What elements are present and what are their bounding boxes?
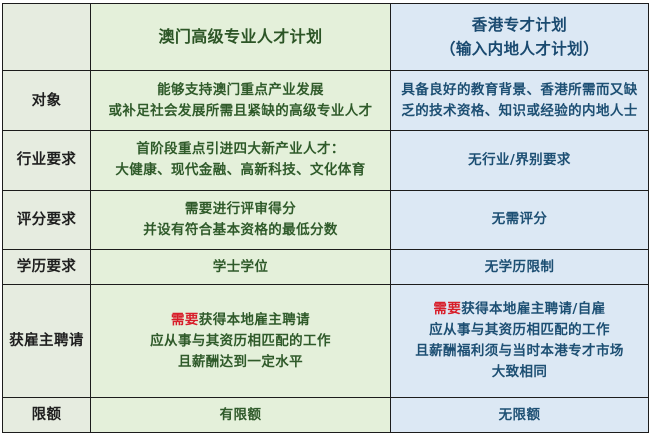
cell-macau-object: 能够支持澳门重点产业发展 或补足社会发展所需且紧缺的高级专业人才 [91, 71, 391, 131]
cell-macau-industry-requirement: 首阶段重点引进四大新产业人才： 大健康、现代金融、高新科技、文化体育 [91, 131, 391, 191]
row-label-education-requirement: 学历要求 [3, 250, 91, 285]
row-label-employer-sponsorship: 获雇主聘请 [3, 285, 91, 398]
row-label-scoring-requirement: 评分要求 [3, 190, 91, 250]
text-line: 或补足社会发展所需且紧缺的高级专业人才 [96, 101, 385, 122]
text-line-with-highlight: 需要获得本地雇主聘请/自雇 [396, 299, 643, 320]
text-line: 无限额 [396, 405, 643, 426]
table-row: 对象 能够支持澳门重点产业发展 或补足社会发展所需且紧缺的高级专业人才 具备良好… [3, 71, 649, 131]
row-label-object: 对象 [3, 71, 91, 131]
cell-hk-employer-sponsorship: 需要获得本地雇主聘请/自雇 应从事与其资历相匹配的工作 且薪酬福利须与当时本港专… [391, 285, 649, 398]
cell-hk-education-requirement: 无学历限制 [391, 250, 649, 285]
cell-hk-object: 具备良好的教育背景、香港所需而又缺 乏的技术资格、知识或经验的内地人士 [391, 71, 649, 131]
text-line: 首阶段重点引进四大新产业人才： [96, 139, 385, 160]
text-line: 无行业/界别要求 [396, 150, 643, 171]
text-line: 能够支持澳门重点产业发展 [96, 80, 385, 101]
text-line: 乏的技术资格、知识或经验的内地人士 [396, 101, 643, 122]
text-line-with-highlight: 需要获得本地雇主聘请 [96, 310, 385, 331]
table-row: 学历要求 学士学位 无学历限制 [3, 250, 649, 285]
highlight-red-text: 需要 [171, 312, 199, 328]
text-line: 具备良好的教育背景、香港所需而又缺 [396, 80, 643, 101]
text-line: 应从事与其资历相匹配的工作 [396, 320, 643, 341]
comparison-table-container: 澳门高级专业人才计划 香港专才计划 （输入内地人才计划） 对象 能够支持澳门重点… [0, 0, 650, 438]
highlight-red-text: 需要 [433, 301, 461, 317]
text-line: 获得本地雇主聘请/自雇 [461, 301, 605, 317]
header-hk-scheme: 香港专才计划 （输入内地人才计划） [391, 4, 649, 71]
text-line: 且薪酬福利须与当时本港专才市场 [396, 341, 643, 362]
text-line: 大致相同 [396, 362, 643, 383]
text-line: 学士学位 [96, 257, 385, 278]
text-line: 应从事与其资历相匹配的工作 [96, 331, 385, 352]
text-line: 无学历限制 [396, 257, 643, 278]
cell-hk-quota: 无限额 [391, 398, 649, 433]
text-line: 需要进行评审得分 [96, 199, 385, 220]
row-label-industry-requirement: 行业要求 [3, 131, 91, 191]
table-header-row: 澳门高级专业人才计划 香港专才计划 （输入内地人才计划） [3, 4, 649, 71]
row-label-quota: 限额 [3, 398, 91, 433]
header-corner-cell [3, 4, 91, 71]
text-line: 大健康、现代金融、高新科技、文化体育 [96, 160, 385, 181]
table-row: 行业要求 首阶段重点引进四大新产业人才： 大健康、现代金融、高新科技、文化体育 … [3, 131, 649, 191]
text-line: 获得本地雇主聘请 [199, 312, 310, 328]
header-macau-line1: 澳门高级专业人才计划 [96, 25, 385, 50]
cell-macau-scoring-requirement: 需要进行评审得分 并设有符合基本资格的最低分数 [91, 190, 391, 250]
text-line: 并设有符合基本资格的最低分数 [96, 220, 385, 241]
table-row: 获雇主聘请 需要获得本地雇主聘请 应从事与其资历相匹配的工作 且薪酬达到一定水平… [3, 285, 649, 398]
table-row: 限额 有限额 无限额 [3, 398, 649, 433]
cell-hk-scoring-requirement: 无需评分 [391, 190, 649, 250]
header-hk-line1: 香港专才计划 [396, 13, 643, 37]
cell-macau-quota: 有限额 [91, 398, 391, 433]
table-row: 评分要求 需要进行评审得分 并设有符合基本资格的最低分数 无需评分 [3, 190, 649, 250]
cell-macau-education-requirement: 学士学位 [91, 250, 391, 285]
text-line: 无需评分 [396, 209, 643, 230]
text-line: 有限额 [96, 405, 385, 426]
text-line: 且薪酬达到一定水平 [96, 352, 385, 373]
header-hk-line2: （输入内地人才计划） [396, 37, 643, 61]
cell-macau-employer-sponsorship: 需要获得本地雇主聘请 应从事与其资历相匹配的工作 且薪酬达到一定水平 [91, 285, 391, 398]
talent-scheme-comparison-table: 澳门高级专业人才计划 香港专才计划 （输入内地人才计划） 对象 能够支持澳门重点… [2, 3, 649, 433]
cell-hk-industry-requirement: 无行业/界别要求 [391, 131, 649, 191]
header-macau-scheme: 澳门高级专业人才计划 [91, 4, 391, 71]
